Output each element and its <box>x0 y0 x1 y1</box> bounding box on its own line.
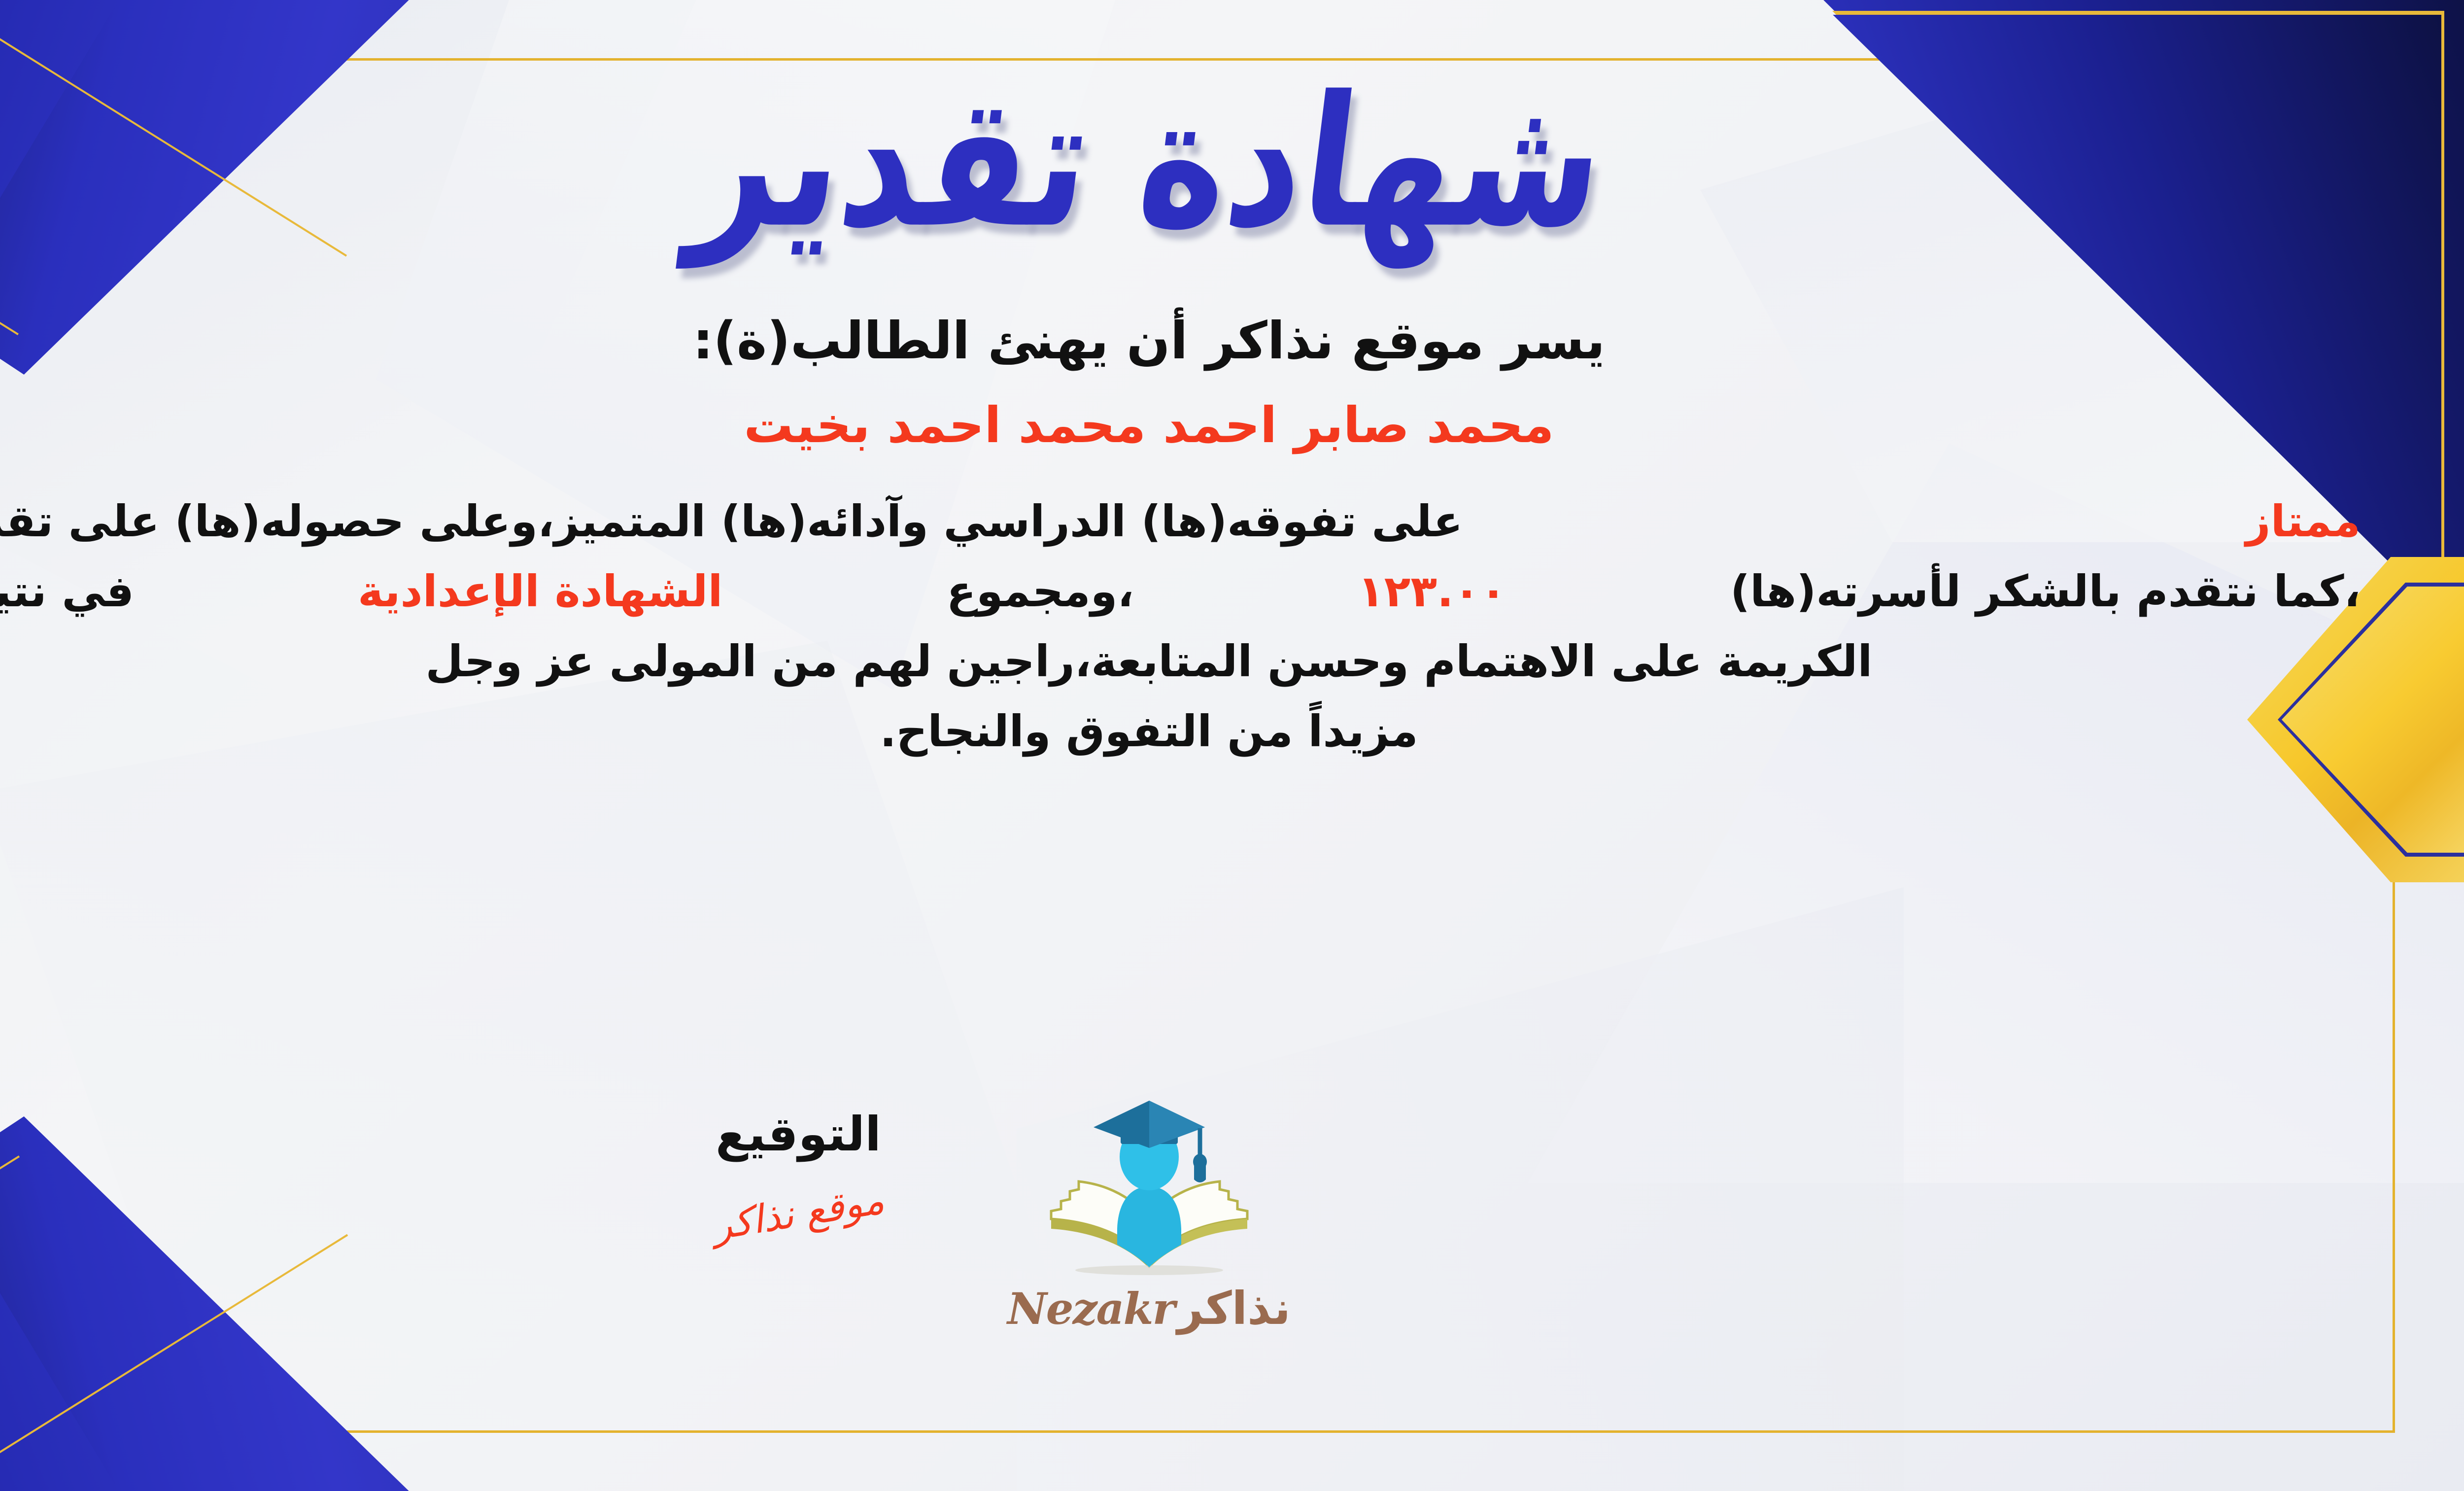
graduate-book-icon <box>1033 1097 1265 1279</box>
body-line-4-prefix: في نتيجة <box>0 556 134 626</box>
certificate-footer: التوقيع موقع نذاكر <box>0 1097 2375 1402</box>
certificate-title: شهادة تقدير <box>684 72 1614 253</box>
body-line-3: ممتاز على تفوقه(ها) الدراسي وآدائه(ها) ا… <box>0 486 2375 556</box>
body-line-5: الكريمة على الاهتمام وحسن المتابعة،راجين… <box>0 626 2375 696</box>
body-line-6: مزيداً من التفوق والنجاح. <box>0 696 2375 766</box>
logo-mark-icon <box>1033 1097 1265 1279</box>
exam-name-value: الشهادة الإعدادية <box>358 556 723 626</box>
logo-wordmark: Nezakr نذاكر <box>1007 1282 1291 1335</box>
logo-name-ar: نذاكر <box>1177 1282 1291 1335</box>
body-line-4: ،كما نتقدم بالشكر لأسرته(ها) ١٢٣.٠٠ ،ومج… <box>0 556 2375 626</box>
total-score-value: ١٢٣.٠٠ <box>1358 556 1506 626</box>
title-area: شهادة تقدير <box>0 89 2375 242</box>
certificate-canvas: شهادة تقدير يسر موقع نذاكر أن يهنئ الطال… <box>0 0 2464 1491</box>
grade-value: ممتاز <box>2246 486 2361 556</box>
certificate-content: شهادة تقدير يسر موقع نذاكر أن يهنئ الطال… <box>0 74 2375 1417</box>
body-line-4-suffix: ،كما نتقدم بالشكر لأسرته(ها) <box>1730 556 2361 626</box>
student-name: محمد صابر احمد محمد احمد بخيت <box>0 396 2375 454</box>
body-line-3-text: على تفوقه(ها) الدراسي وآدائه(ها) المتميز… <box>0 486 1463 556</box>
logo-name-en: Nezakr <box>1007 1283 1174 1334</box>
body-line-4-middle: ،ومجموع <box>947 556 1134 626</box>
certificate-body: ممتاز على تفوقه(ها) الدراسي وآدائه(ها) ا… <box>0 486 2375 766</box>
brand-logo: Nezakr نذاكر <box>0 1097 2375 1335</box>
greeting-line: يسر موقع نذاكر أن يهنئ الطالب(ة): <box>0 311 2375 371</box>
